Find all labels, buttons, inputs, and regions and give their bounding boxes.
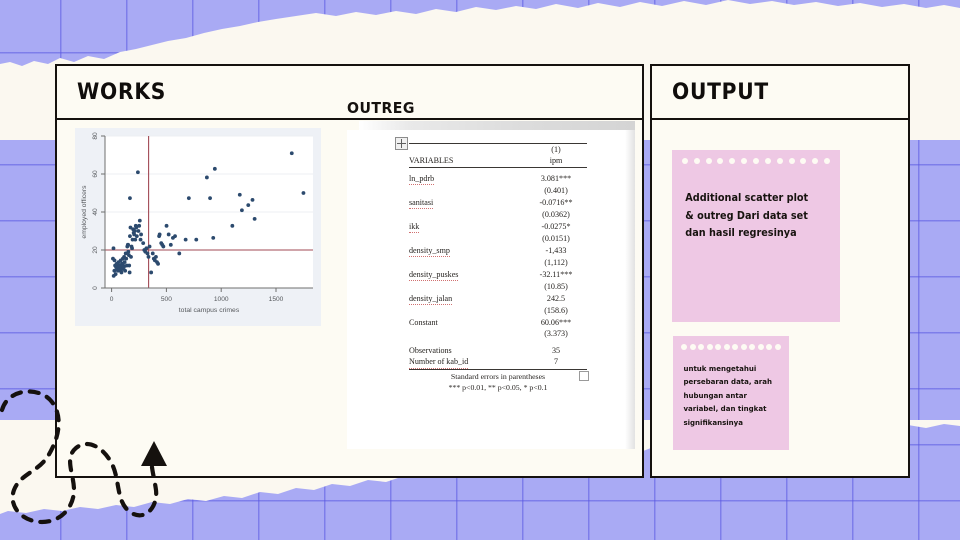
scatter-point (167, 233, 171, 237)
svg-text:40: 40 (92, 208, 99, 216)
scatter-point (158, 233, 162, 237)
regression-spacer-cell (409, 281, 525, 292)
scatter-point (253, 217, 257, 221)
scatter-point (173, 234, 177, 238)
column-number: (1) (525, 144, 587, 155)
regression-stat-row: Observations35 (409, 345, 587, 356)
scatter-point (161, 245, 165, 249)
scatter-point (128, 271, 132, 275)
regression-standard-error: (158.6) (525, 305, 587, 316)
dependent-variable: ipm (525, 155, 587, 167)
scatter-point (129, 255, 133, 259)
scatter-point (112, 246, 116, 250)
regression-se-row: (10.85) (409, 281, 587, 292)
scatter-point (133, 238, 137, 242)
regression-row: ln_pdrb3.081*** (409, 173, 587, 185)
scatter-point (135, 234, 139, 238)
regression-variable-name: ikk (409, 221, 525, 233)
scatter-point (187, 196, 191, 200)
scatter-point (184, 238, 188, 242)
regression-variable-name: sanitasi (409, 197, 525, 209)
arrow-triangle-icon (139, 440, 169, 468)
scatter-point (127, 264, 131, 268)
regression-standard-error: (10.85) (525, 281, 587, 292)
regression-stat-value: 7 (525, 356, 587, 369)
sticky-note-primary: Additional scatter plot & outreg Dari da… (672, 150, 840, 322)
output-title: OUTPUT (672, 80, 769, 105)
table-blank-cell (409, 144, 525, 155)
svg-text:60: 60 (92, 170, 99, 178)
document-edge-shadow (625, 130, 635, 449)
regression-stat-name: Number of kab_id (409, 356, 525, 369)
works-title: WORKS (77, 80, 166, 105)
variables-header: VARIABLES (409, 155, 525, 167)
regression-standard-error: (3.373) (525, 328, 587, 339)
scatter-point (205, 176, 209, 180)
regression-variable-name: ln_pdrb (409, 173, 525, 185)
scatter-point (147, 255, 151, 259)
footnote-significance: *** p<0.01, ** p<0.05, * p<0.1 (409, 382, 587, 394)
regression-coefficient: -1,433 (525, 245, 587, 257)
table-footnotes: Standard errors in parentheses *** p<0.0… (409, 371, 587, 394)
svg-text:80: 80 (92, 132, 99, 140)
scatter-point (238, 193, 242, 197)
sticky-note-secondary: untuk mengetahui persebaran data, arah h… (673, 336, 789, 450)
scatter-point (165, 224, 169, 228)
regression-stat-value: 35 (525, 345, 587, 356)
regression-variable-name: density_smp (409, 245, 525, 257)
scatter-point (139, 238, 143, 242)
regression-standard-error: (0.0151) (525, 233, 587, 244)
regression-row: ikk-0.0275* (409, 221, 587, 233)
regression-spacer-cell (409, 257, 525, 268)
output-card-header: OUTPUT (652, 66, 908, 120)
regression-coefficient: -32.11*** (525, 269, 587, 281)
y-axis-label: employed officers (81, 185, 88, 239)
regression-stat-row: Number of kab_id7 (409, 356, 587, 369)
scatter-point (113, 258, 117, 262)
regression-spacer-cell (409, 185, 525, 196)
regression-standard-error: (0.0362) (525, 209, 587, 220)
scatter-point (128, 196, 132, 200)
scatter-point (151, 252, 155, 256)
scatter-point (246, 203, 250, 207)
scatter-point (139, 233, 143, 237)
scatter-point (130, 246, 134, 250)
regression-coefficient: -0.0716** (525, 197, 587, 209)
scatter-point (120, 271, 124, 275)
svg-text:0: 0 (110, 296, 114, 303)
regression-se-row: (0.0151) (409, 233, 587, 244)
regression-row: Constant60.06*** (409, 317, 587, 328)
svg-text:0: 0 (92, 286, 99, 290)
footnote-standard-errors: Standard errors in parentheses (409, 371, 587, 383)
slide-canvas: WORKS (0, 0, 960, 540)
svg-text:1500: 1500 (269, 296, 284, 303)
scatter-point (211, 236, 215, 240)
svg-text:20: 20 (92, 246, 99, 254)
scatter-point (208, 196, 212, 200)
scatter-point (148, 245, 152, 249)
regression-row: density_jalan242.5 (409, 293, 587, 305)
dashed-loop-doodle (0, 382, 200, 540)
regression-row: density_puskes-32.11*** (409, 269, 587, 281)
scatter-point (137, 224, 141, 228)
regression-coefficient: 242.5 (525, 293, 587, 305)
table-resize-handle-icon[interactable] (579, 371, 589, 381)
regression-se-row: (0.0362) (409, 209, 587, 220)
regression-se-row: (3.373) (409, 328, 587, 339)
word-document: OUTREG (1) VARIABL (347, 121, 635, 449)
scatter-point (141, 241, 145, 245)
regression-coefficient: -0.0275* (525, 221, 587, 233)
regression-variable-name: density_jalan (409, 293, 525, 305)
scatter-point (302, 191, 306, 195)
scatter-point (194, 238, 198, 242)
table-move-handle-icon[interactable] (395, 137, 408, 150)
regression-row: density_smp-1,433 (409, 245, 587, 257)
regression-stat-name: Observations (409, 345, 525, 356)
regression-spacer-cell (409, 328, 525, 339)
scatter-point (133, 229, 137, 233)
scatter-point (128, 234, 132, 238)
regression-se-row: (1,112) (409, 257, 587, 268)
scatter-point (177, 252, 181, 256)
scatter-point (138, 219, 142, 223)
scatter-point (213, 167, 217, 171)
regression-standard-error: (0.401) (525, 185, 587, 196)
scatter-point (251, 198, 255, 202)
svg-text:500: 500 (161, 296, 172, 303)
scatter-point (230, 224, 234, 228)
note-secondary-text: untuk mengetahui persebaran data, arah h… (673, 362, 783, 429)
scatter-point (154, 255, 158, 259)
scatter-point (126, 250, 130, 254)
scatter-point (290, 151, 294, 155)
note-dot-border (673, 343, 789, 350)
note-primary-text: Additional scatter plot & outreg Dari da… (672, 190, 832, 243)
scatter-point (146, 252, 150, 256)
scatter-point (136, 170, 140, 174)
scatter-point (123, 269, 127, 273)
scatter-point (137, 229, 141, 233)
regression-spacer-cell (409, 305, 525, 316)
scatter-point (156, 262, 160, 266)
scatter-point (126, 243, 130, 247)
scatter-point (169, 243, 173, 247)
regression-spacer-cell (409, 233, 525, 244)
regression-spacer-cell (409, 209, 525, 220)
x-axis-label: total campus crimes (179, 307, 240, 314)
regression-variable-name: density_puskes (409, 269, 525, 281)
scatter-point (149, 271, 153, 275)
regression-coefficient: 3.081*** (525, 173, 587, 185)
svg-text:1000: 1000 (214, 296, 229, 303)
note-dot-border (672, 157, 840, 164)
regression-row: sanitasi-0.0716** (409, 197, 587, 209)
regression-coefficient: 60.06*** (525, 317, 587, 328)
regression-se-row: (158.6) (409, 305, 587, 316)
scatter-point (124, 257, 128, 261)
scatter-point (123, 260, 127, 264)
document-top-band (359, 121, 635, 130)
scatter-point (112, 274, 116, 278)
outreg-label: OUTREG (347, 99, 415, 117)
regression-standard-error: (1,112) (525, 257, 587, 268)
scatter-point (240, 208, 244, 212)
regression-table: (1) VARIABLES ipm ln_pdrb3.081*** (0.401… (409, 143, 587, 394)
regression-variable-name: Constant (409, 317, 525, 328)
regression-se-row: (0.401) (409, 185, 587, 196)
scatter-plot: 0 20 40 60 80 employed officers (75, 128, 321, 326)
